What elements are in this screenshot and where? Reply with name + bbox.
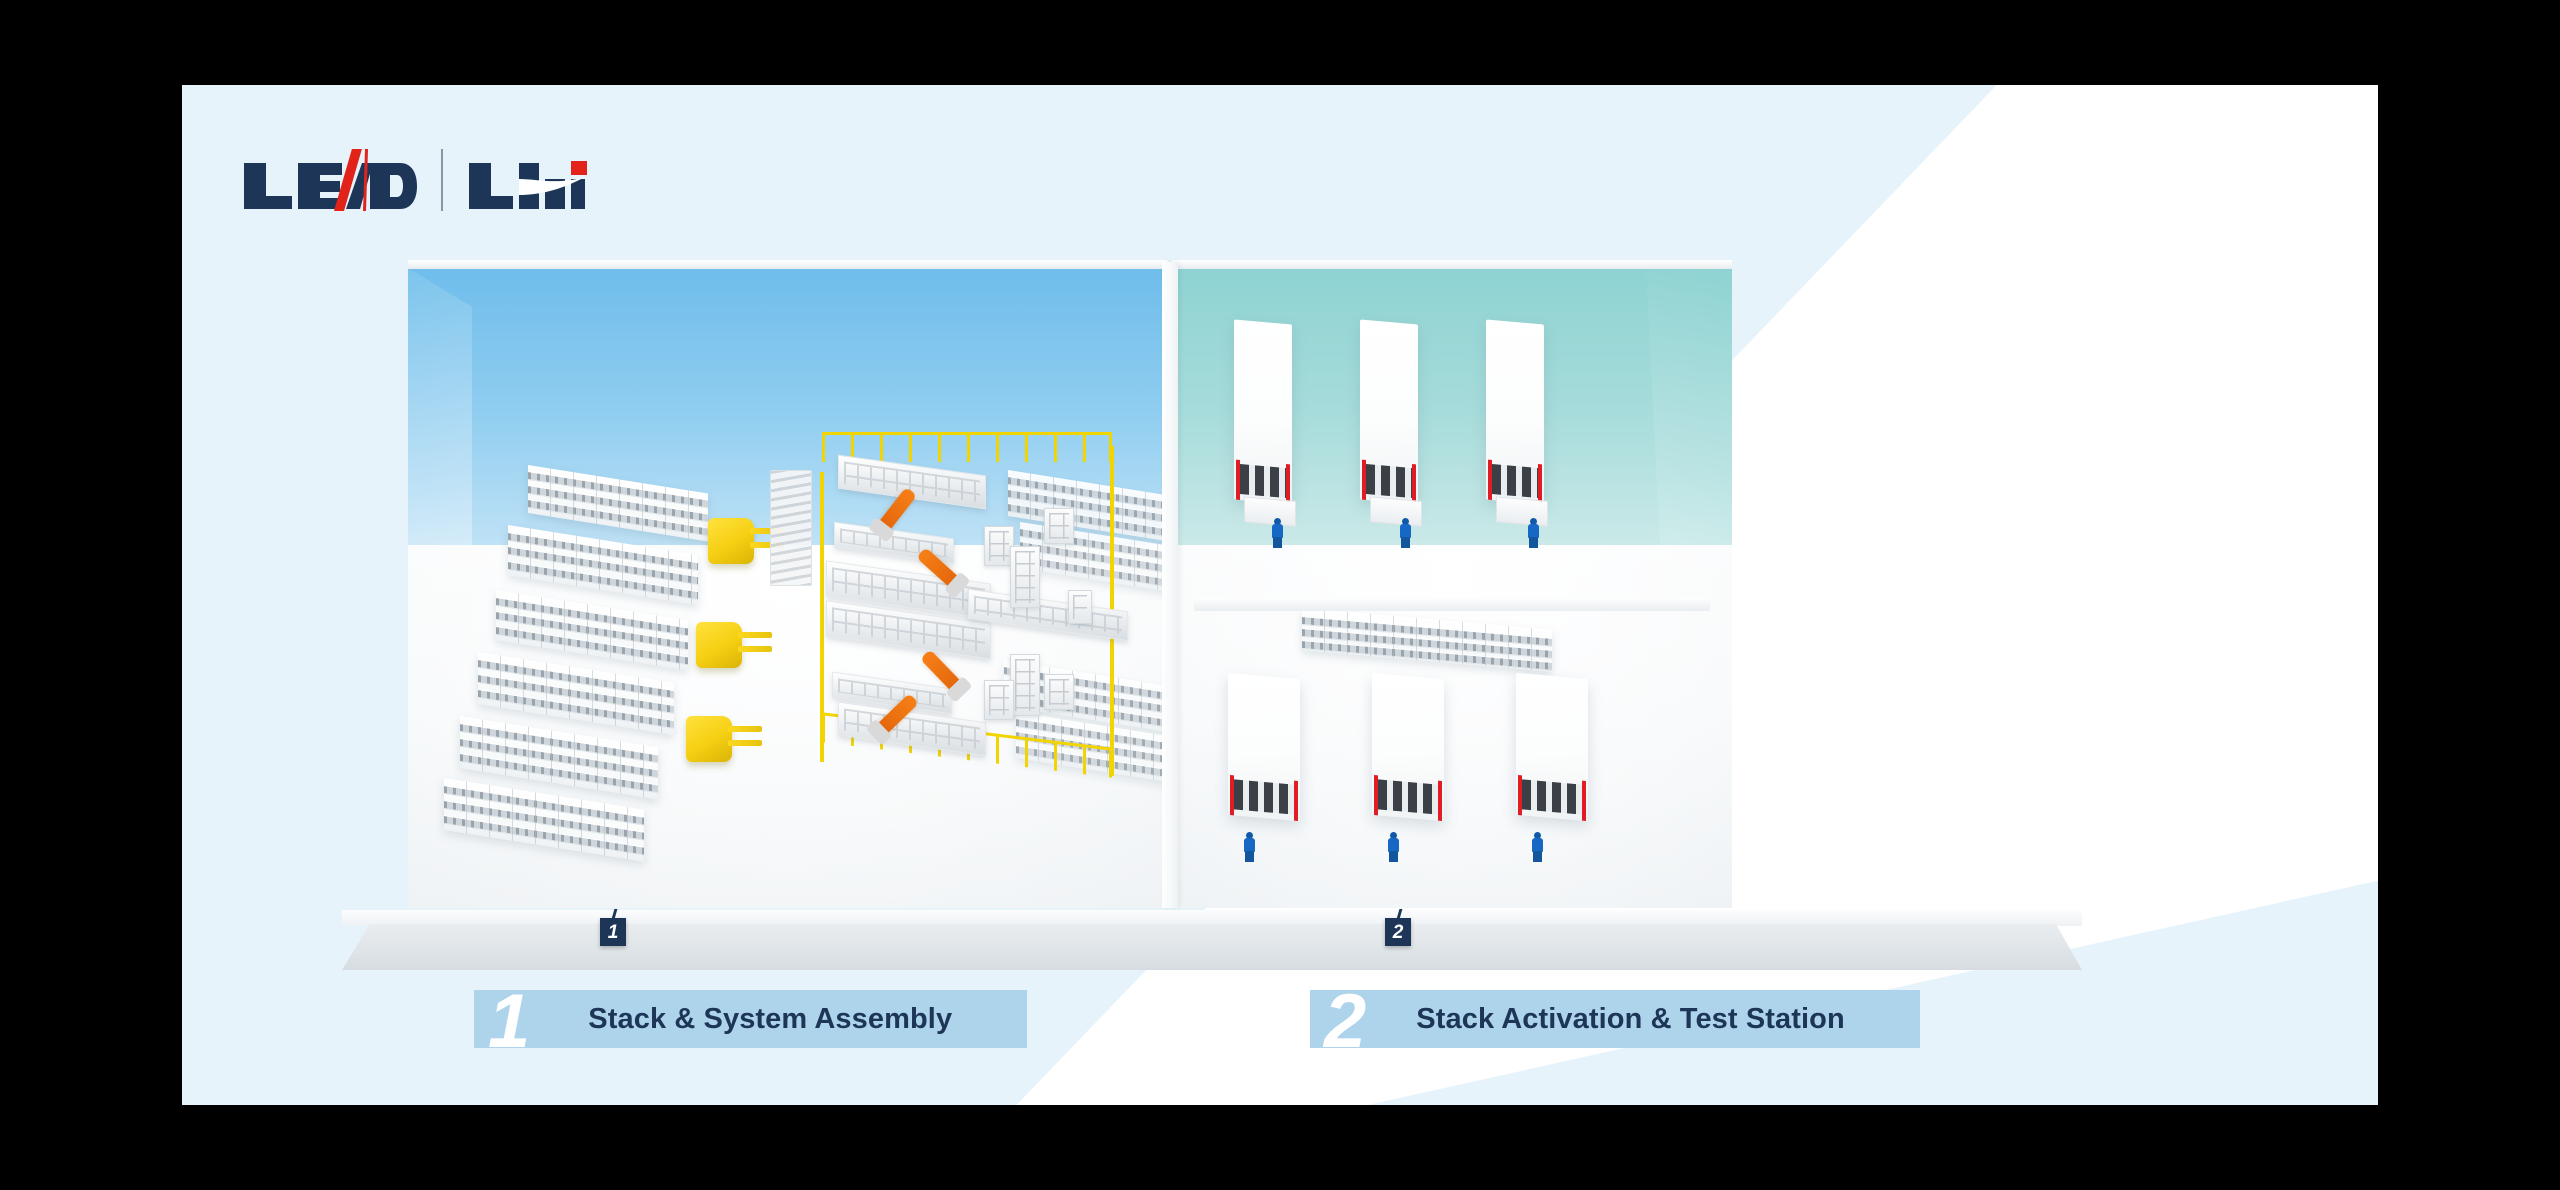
caption-1-number: 1 [488, 995, 530, 1050]
factory-3d-scene: 1 2 [342, 250, 2082, 970]
logo-divider [441, 149, 443, 211]
zone-badge-1-label: 1 [608, 923, 619, 942]
room1-rim [408, 260, 1168, 269]
test-chamber [1516, 673, 1588, 821]
caption-zone-1[interactable]: 1 Stack & System Assembly [474, 990, 1027, 1048]
worker-figure [1400, 518, 1411, 548]
test-chamber [1234, 319, 1292, 504]
brand-logo [242, 135, 587, 225]
room2-inner-divider [1194, 597, 1709, 611]
worker-figure [1528, 518, 1539, 548]
caption-1-label: Stack & System Assembly [588, 1003, 952, 1036]
test-chamber [1228, 673, 1300, 821]
caption-2-label: Stack Activation & Test Station [1416, 1003, 1845, 1036]
pallet [1010, 546, 1040, 608]
worker-figure [1244, 832, 1255, 862]
zone-badge-2-label: 2 [1393, 923, 1404, 942]
lhi-wordmark [467, 149, 587, 211]
pallet [984, 680, 1014, 720]
agv-forklift [686, 716, 732, 762]
pallet [1068, 590, 1092, 624]
zone-badge-1[interactable]: 1 [600, 918, 626, 946]
test-chamber [1372, 673, 1444, 821]
pallet [1044, 508, 1074, 544]
worker-figure [1272, 518, 1283, 548]
pallet [1044, 674, 1074, 710]
test-chamber [1360, 319, 1418, 504]
caption-2-number: 2 [1324, 995, 1366, 1050]
agv-forklift [696, 622, 742, 668]
zone-2-room [1172, 260, 1732, 908]
zone-divider-wall [1162, 262, 1178, 908]
pallet [1010, 654, 1040, 716]
slide-canvas: 1 2 1 Stack & System Assembly 2 Stack Ac… [182, 85, 2378, 1105]
agv-forklift [708, 518, 754, 564]
room2-rim [1172, 260, 1732, 269]
stair-platform [770, 470, 812, 586]
zone-1-room [408, 260, 1168, 908]
zone-badge-2[interactable]: 2 [1385, 918, 1411, 946]
caption-zone-2[interactable]: 2 Stack Activation & Test Station [1310, 990, 1920, 1048]
test-chamber [1486, 319, 1544, 504]
worker-figure [1532, 832, 1543, 862]
lead-wordmark [242, 149, 417, 211]
worker-figure [1388, 832, 1399, 862]
